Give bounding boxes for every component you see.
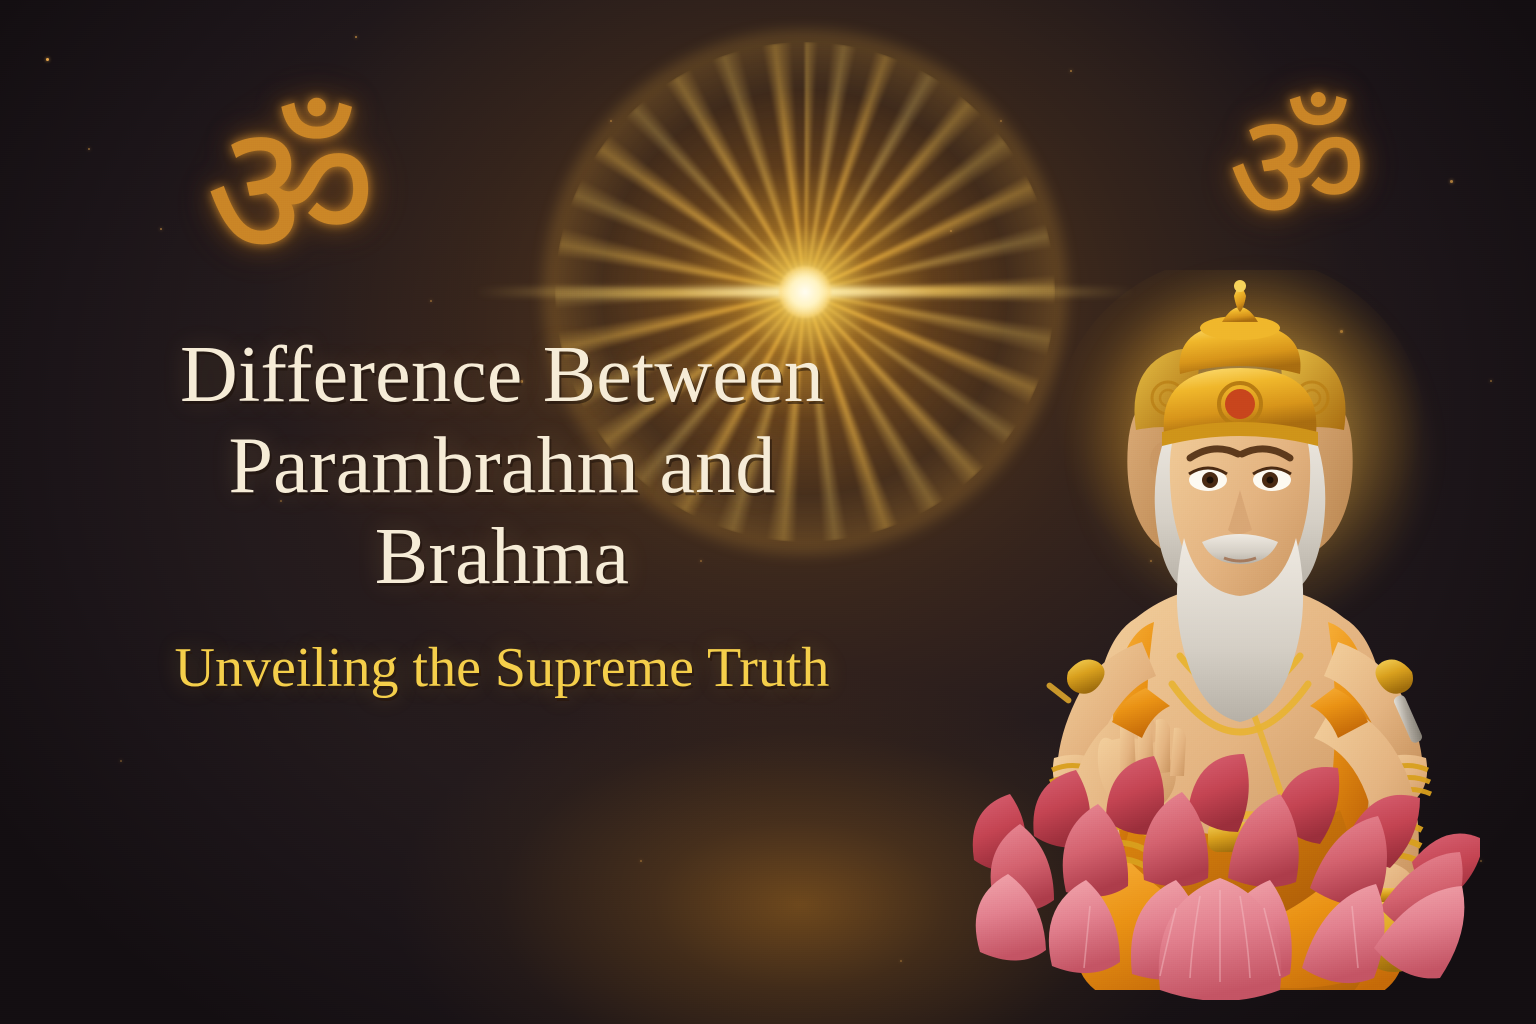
title-line-3: Brahma bbox=[62, 512, 942, 603]
crown-gem bbox=[1225, 389, 1255, 419]
title-line-2: Parambrahm and bbox=[62, 421, 942, 512]
headline-block: Difference Between Parambrahm and Brahma… bbox=[62, 330, 942, 699]
om-symbol-left: ॐ bbox=[205, 98, 376, 286]
title-line-1: Difference Between bbox=[62, 330, 942, 421]
subtitle: Unveiling the Supreme Truth bbox=[62, 638, 942, 700]
lotus-seat bbox=[960, 740, 1480, 1000]
banner-image: ॐ ॐ Difference Between Parambrahm and Br… bbox=[0, 0, 1536, 1024]
om-symbol-right: ॐ bbox=[1228, 92, 1367, 244]
sun-core bbox=[779, 266, 831, 318]
